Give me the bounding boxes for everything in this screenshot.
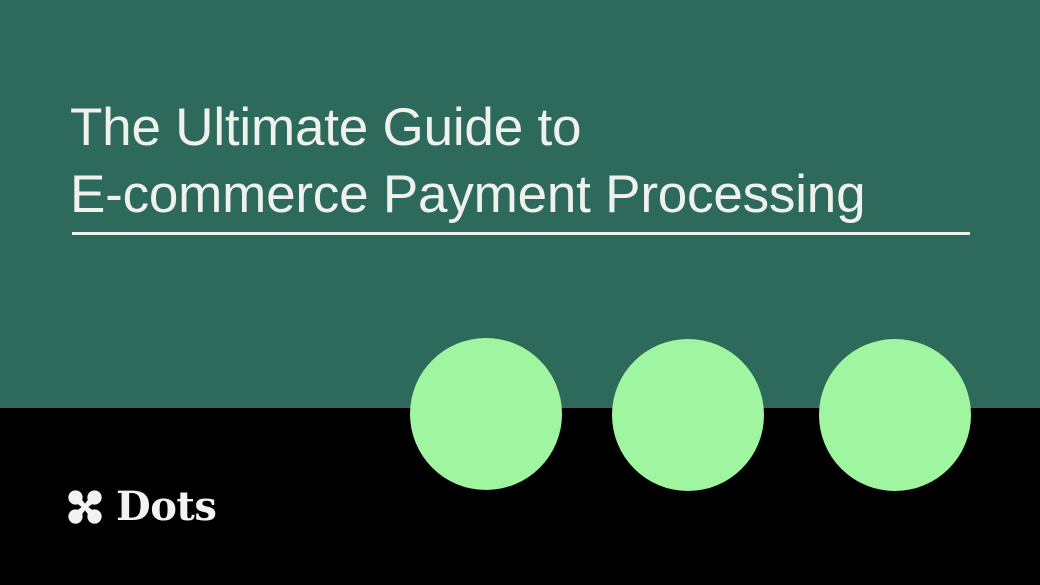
brand-logo[interactable]: Dots <box>68 487 216 527</box>
decorative-circle-2 <box>612 339 764 491</box>
brand-logo-wordmark: Dots <box>116 487 216 527</box>
decorative-circle-3 <box>819 339 971 491</box>
decorative-circle-1 <box>410 338 562 490</box>
page-title-line-2: E-commerce Payment Processing <box>70 161 990 228</box>
page-title: The Ultimate Guide to E-commerce Payment… <box>70 94 990 228</box>
title-divider-rule <box>72 232 970 235</box>
dots-four-cross-icon <box>68 490 102 524</box>
page-title-line-1: The Ultimate Guide to <box>70 94 990 161</box>
blog-hero-banner: The Ultimate Guide to E-commerce Payment… <box>0 0 1040 585</box>
